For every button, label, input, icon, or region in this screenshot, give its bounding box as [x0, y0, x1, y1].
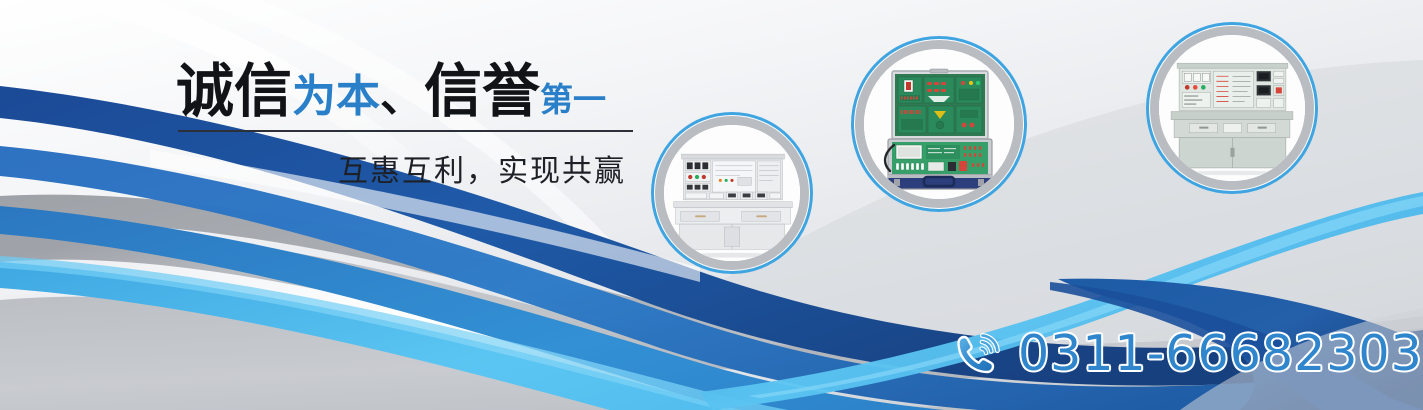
- headline-separator: 、: [380, 71, 424, 122]
- headline-part-1: 诚信: [176, 57, 292, 125]
- product-image-training-case: [864, 49, 1014, 199]
- phone-call-icon: [952, 328, 1004, 380]
- headline-divider: [178, 130, 633, 132]
- headline-part-2: 为本: [292, 71, 380, 122]
- product-circle-3[interactable]: [1146, 22, 1318, 194]
- promotional-banner: 诚信为本、信誉第一 互惠互利，实现共赢: [0, 0, 1423, 410]
- product-circle-2[interactable]: [851, 36, 1027, 212]
- contact-phone-block[interactable]: 0311-66682303: [952, 325, 1423, 382]
- headline-block: 诚信为本、信誉第一 互惠互利，实现共赢: [176, 62, 636, 190]
- headline-part-3: 信誉: [424, 57, 540, 125]
- product-image-workbench: [664, 125, 800, 261]
- electrical-training-workbench-icon: [664, 125, 800, 261]
- headline-part-4: 第一: [540, 80, 606, 119]
- subtitle: 互惠互利，实现共赢: [176, 146, 626, 190]
- product-circle-1[interactable]: [651, 112, 813, 274]
- phone-number[interactable]: 0311-66682303: [1018, 325, 1423, 382]
- green-electrical-training-bench-icon: [1159, 35, 1305, 181]
- product-image-green-bench: [1159, 35, 1305, 181]
- headline: 诚信为本、信誉第一: [176, 62, 636, 120]
- portable-electronics-training-case-icon: [864, 49, 1014, 199]
